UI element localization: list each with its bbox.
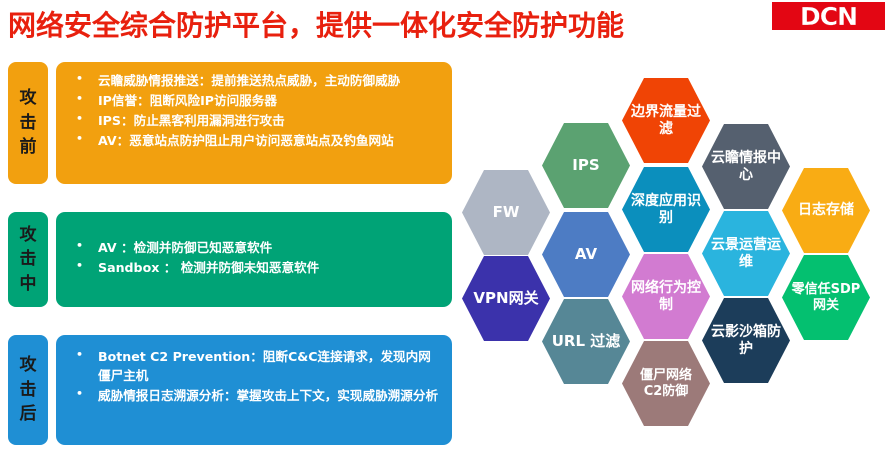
hex-label: 云瞻情报中心: [711, 150, 781, 183]
capability-hex-grid: FWVPN网关IPSAVURL 过滤边界流量过滤深度应用识别网络行为控制僵尸网络…: [0, 0, 895, 452]
hex-label: 云影沙箱防护: [711, 324, 781, 357]
hex-label: FW: [493, 204, 520, 222]
hex-label: AV: [575, 246, 597, 264]
hex-label: 零信任SDP网关: [791, 282, 861, 313]
hex-cell[interactable]: FW: [462, 170, 550, 255]
hex-label: IPS: [572, 157, 599, 175]
hex-label: 云景运营运维: [711, 237, 781, 270]
hex-cell[interactable]: 僵尸网络C2防御: [622, 341, 710, 426]
hex-cell[interactable]: IPS: [542, 123, 630, 208]
hex-label: 僵尸网络C2防御: [631, 368, 701, 399]
hex-label: URL 过滤: [552, 333, 621, 351]
hex-cell[interactable]: 深度应用识别: [622, 167, 710, 252]
hex-label: 日志存储: [798, 202, 854, 219]
hex-cell[interactable]: AV: [542, 212, 630, 297]
hex-cell[interactable]: URL 过滤: [542, 299, 630, 384]
hex-cell[interactable]: 云景运营运维: [702, 211, 790, 296]
hex-cell[interactable]: 云影沙箱防护: [702, 298, 790, 383]
hex-cell[interactable]: 日志存储: [782, 168, 870, 253]
hex-cell[interactable]: VPN网关: [462, 256, 550, 341]
hex-label: 边界流量过滤: [631, 104, 701, 137]
hex-cell[interactable]: 零信任SDP网关: [782, 255, 870, 340]
hex-label: 深度应用识别: [631, 193, 701, 226]
hex-label: VPN网关: [473, 290, 538, 308]
hex-cell[interactable]: 边界流量过滤: [622, 78, 710, 163]
hex-label: 网络行为控制: [631, 280, 701, 313]
hex-cell[interactable]: 网络行为控制: [622, 254, 710, 339]
slide-root: 网络安全综合防护平台，提供一体化安全防护功能 DCN 攻击前云瞻威胁情报推送：提…: [0, 0, 895, 452]
hex-cell[interactable]: 云瞻情报中心: [702, 124, 790, 209]
